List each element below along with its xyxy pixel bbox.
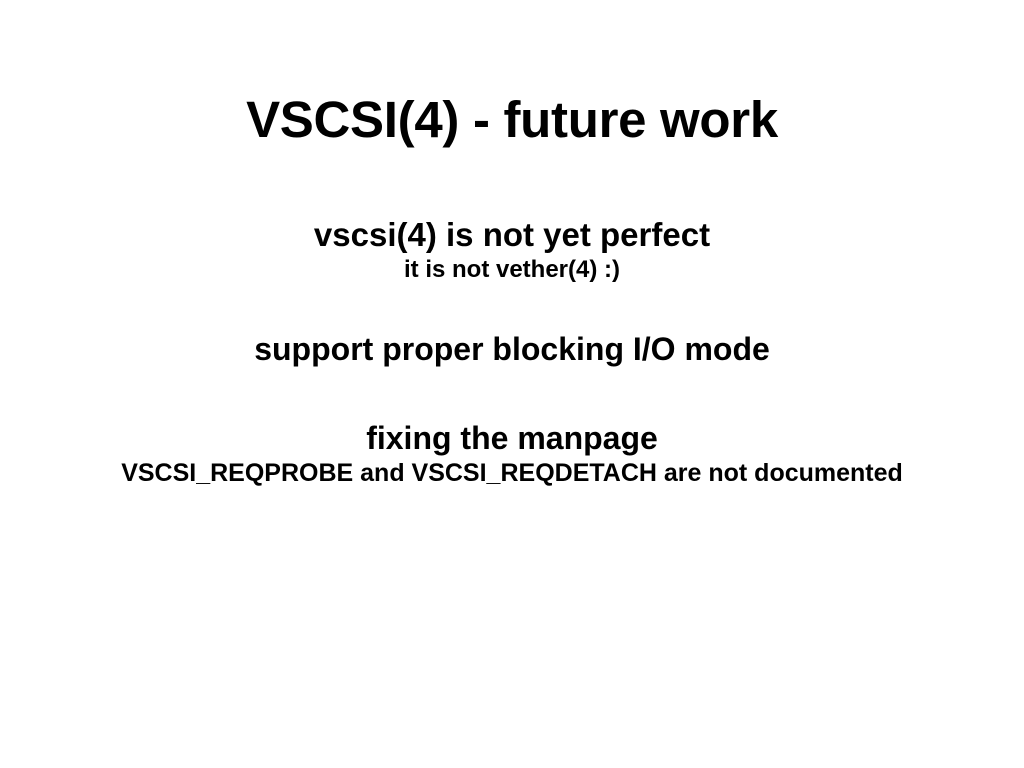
block-3-note: VSCSI_REQPROBE and VSCSI_REQDETACH are n… xyxy=(0,458,1024,488)
presentation-slide: VSCSI(4) - future work vscsi(4) is not y… xyxy=(0,0,1024,768)
slide-title: VSCSI(4) - future work xyxy=(0,92,1024,148)
block-1-note: it is not vether(4) :) xyxy=(0,255,1024,284)
slide-empty-area xyxy=(0,510,1024,768)
block-3-heading: fixing the manpage xyxy=(0,420,1024,458)
slide-block-1: vscsi(4) is not yet perfect it is not ve… xyxy=(0,216,1024,284)
slide-block-2: support proper blocking I/O mode xyxy=(0,331,1024,369)
slide-block-3: fixing the manpage VSCSI_REQPROBE and VS… xyxy=(0,420,1024,488)
block-1-heading: vscsi(4) is not yet perfect xyxy=(0,216,1024,255)
block-2-heading: support proper blocking I/O mode xyxy=(0,331,1024,369)
